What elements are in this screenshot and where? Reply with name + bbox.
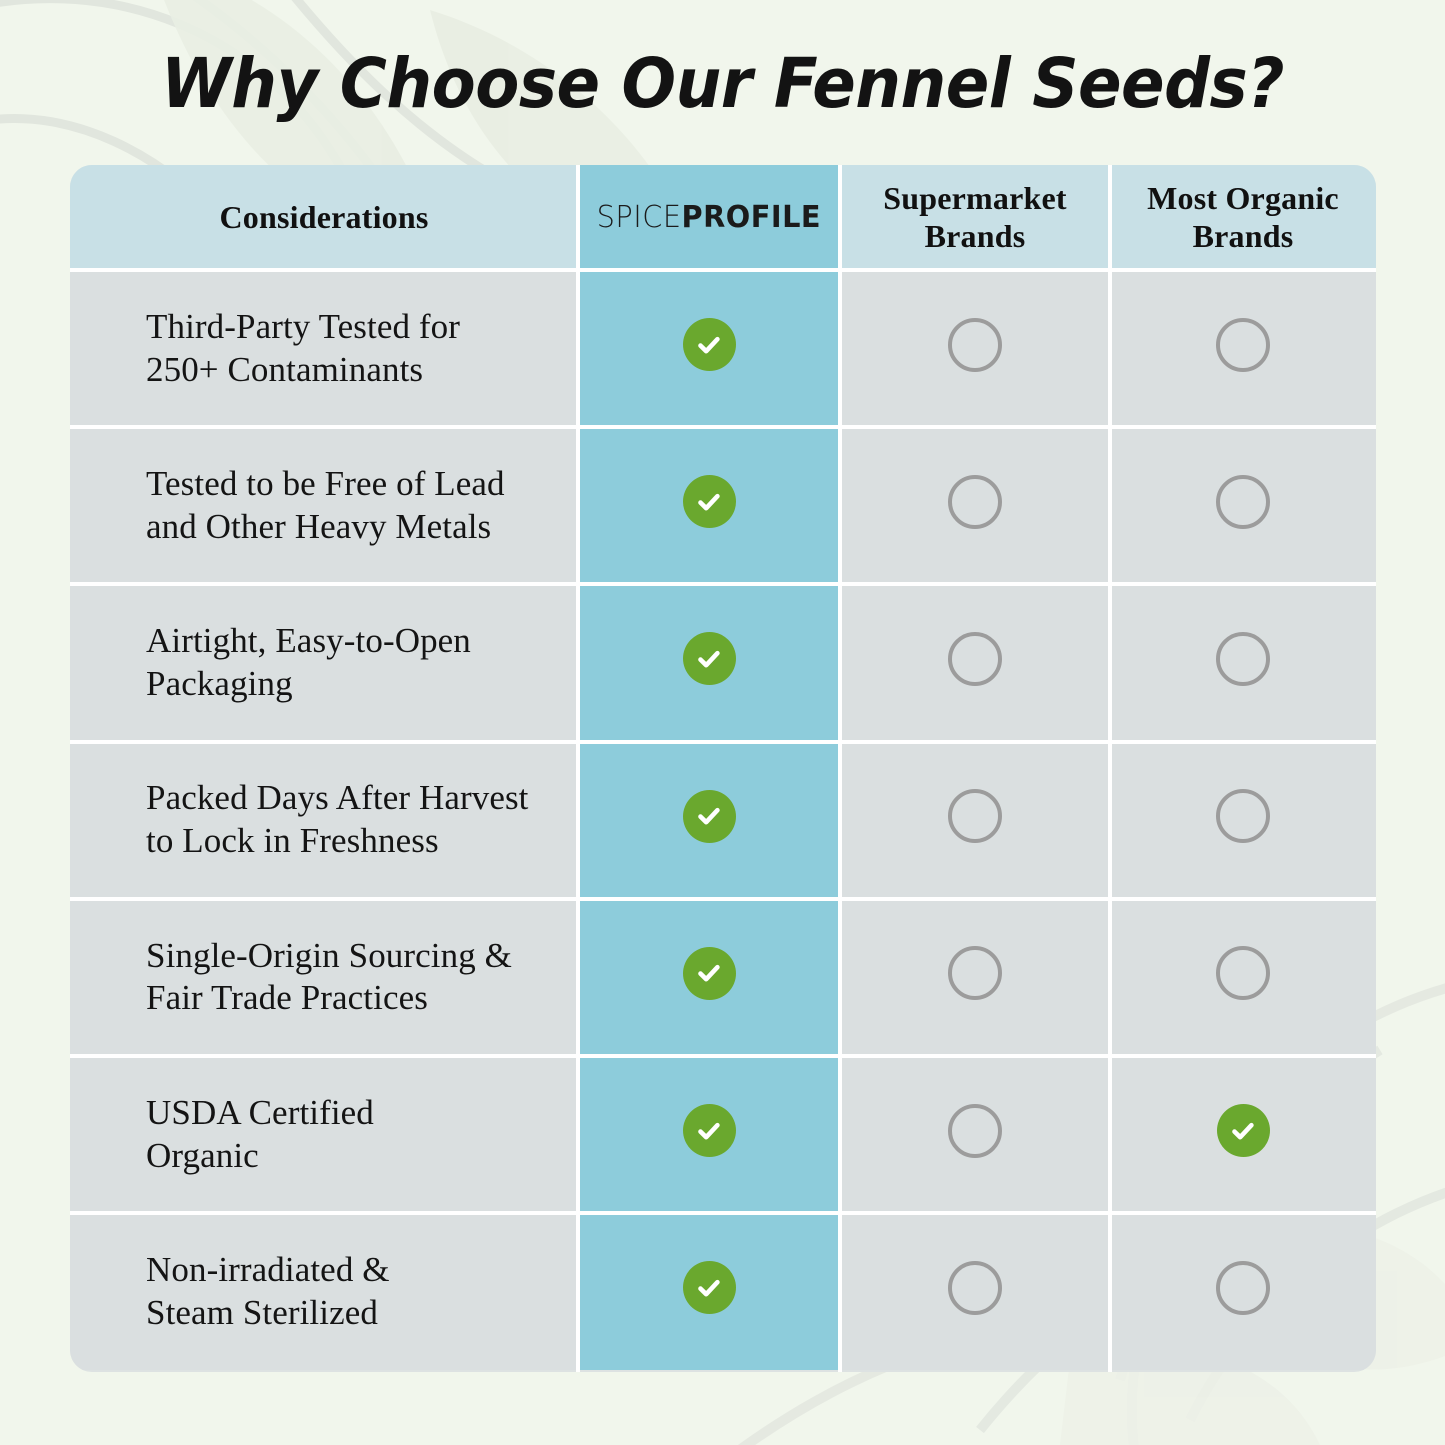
row-label-line-1: Non-irradiated & (146, 1250, 390, 1289)
table-row: Single-Origin Sourcing &Fair Trade Pract… (70, 899, 1376, 1056)
empty-circle-icon (1216, 946, 1270, 1000)
empty-circle-icon (948, 1104, 1002, 1158)
header-line-1: Supermarket (883, 180, 1067, 216)
check-circle-icon (683, 947, 736, 1000)
marker-cell-supermarket-brands (840, 742, 1110, 899)
check-circle-icon (1217, 1104, 1270, 1157)
table-row: USDA CertifiedOrganic (70, 1056, 1376, 1213)
marker-cell-spiceprofile (578, 742, 840, 899)
row-label-line-2: Steam Sterilized (146, 1293, 378, 1332)
empty-circle-icon (948, 1261, 1002, 1315)
header-line-2: Brands (925, 218, 1026, 254)
row-label-line-2: Fair Trade Practices (146, 978, 428, 1017)
row-label-text: Packed Days After Harvestto Lock in Fres… (146, 777, 529, 862)
marker-cell-most-organic-brands (1110, 899, 1376, 1056)
logo-text-light: SPICE (597, 200, 682, 235)
row-label-cell: Non-irradiated &Steam Sterilized (70, 1213, 578, 1370)
marker-cell-supermarket-brands (840, 270, 1110, 427)
marker-cell-spiceprofile (578, 584, 840, 741)
marker-cell-supermarket-brands (840, 1056, 1110, 1213)
marker-cell-supermarket-brands (840, 1213, 1110, 1370)
header-label-considerations: Considerations (219, 199, 428, 236)
empty-circle-icon (948, 632, 1002, 686)
table-row: Third-Party Tested for250+ Contaminants (70, 270, 1376, 427)
row-label-line-2: to Lock in Freshness (146, 821, 439, 860)
row-label-line-1: Packed Days After Harvest (146, 778, 529, 817)
header-label-supermarket: SupermarketBrands (883, 180, 1067, 254)
row-label-line-1: Third-Party Tested for (146, 307, 460, 346)
page-title: Why Choose Our Fennel Seeds? (51, 44, 1395, 124)
table-body: Third-Party Tested for250+ ContaminantsT… (70, 270, 1376, 1370)
row-label-cell: Airtight, Easy-to-OpenPackaging (70, 584, 578, 741)
empty-circle-icon (948, 789, 1002, 843)
marker-cell-spiceprofile (578, 899, 840, 1056)
marker-cell-most-organic-brands (1110, 270, 1376, 427)
row-label-cell: USDA CertifiedOrganic (70, 1056, 578, 1213)
header-cell-supermarket-brands: SupermarketBrands (840, 165, 1110, 270)
header-cell-most-organic-brands: Most OrganicBrands (1110, 165, 1376, 270)
row-label-line-2: Organic (146, 1136, 259, 1175)
marker-cell-most-organic-brands (1110, 427, 1376, 584)
row-label-line-1: USDA Certified (146, 1093, 374, 1132)
row-label-text: Single-Origin Sourcing &Fair Trade Pract… (146, 935, 512, 1020)
marker-cell-spiceprofile (578, 270, 840, 427)
row-label-cell: Packed Days After Harvestto Lock in Fres… (70, 742, 578, 899)
marker-cell-most-organic-brands (1110, 584, 1376, 741)
logo-text-bold: PROFILE (682, 200, 822, 235)
empty-circle-icon (1216, 1261, 1270, 1315)
marker-cell-spiceprofile (578, 427, 840, 584)
empty-circle-icon (1216, 318, 1270, 372)
empty-circle-icon (1216, 789, 1270, 843)
table-header-row: Considerations SPICEPROFILE SupermarketB… (70, 165, 1376, 270)
check-circle-icon (683, 632, 736, 685)
marker-cell-supermarket-brands (840, 427, 1110, 584)
marker-cell-most-organic-brands (1110, 1056, 1376, 1213)
empty-circle-icon (948, 946, 1002, 1000)
marker-cell-most-organic-brands (1110, 1213, 1376, 1370)
check-circle-icon (683, 1261, 736, 1314)
table-row: Non-irradiated &Steam Sterilized (70, 1213, 1376, 1370)
header-cell-spiceprofile: SPICEPROFILE (578, 165, 840, 270)
row-label-line-2: 250+ Contaminants (146, 350, 423, 389)
comparison-table: Considerations SPICEPROFILE SupermarketB… (70, 165, 1376, 1372)
empty-circle-icon (1216, 475, 1270, 529)
check-circle-icon (683, 475, 736, 528)
row-label-cell: Tested to be Free of Leadand Other Heavy… (70, 427, 578, 584)
marker-cell-spiceprofile (578, 1056, 840, 1213)
row-label-line-1: Single-Origin Sourcing & (146, 936, 512, 975)
empty-circle-icon (1216, 632, 1270, 686)
check-circle-icon (683, 318, 736, 371)
row-label-text: USDA CertifiedOrganic (146, 1092, 374, 1177)
empty-circle-icon (948, 318, 1002, 372)
row-label-text: Tested to be Free of Leadand Other Heavy… (146, 463, 505, 548)
check-circle-icon (683, 1104, 736, 1157)
row-label-text: Third-Party Tested for250+ Contaminants (146, 306, 460, 391)
table-row: Airtight, Easy-to-OpenPackaging (70, 584, 1376, 741)
header-line-2: Brands (1193, 218, 1294, 254)
table-row: Tested to be Free of Leadand Other Heavy… (70, 427, 1376, 584)
row-label-line-1: Tested to be Free of Lead (146, 464, 505, 503)
spiceprofile-logo: SPICEPROFILE (597, 200, 821, 235)
row-label-cell: Third-Party Tested for250+ Contaminants (70, 270, 578, 427)
row-label-text: Non-irradiated &Steam Sterilized (146, 1249, 390, 1334)
check-circle-icon (683, 790, 736, 843)
row-label-line-2: and Other Heavy Metals (146, 507, 491, 546)
marker-cell-spiceprofile (578, 1213, 840, 1370)
row-label-line-2: Packaging (146, 664, 293, 703)
table-row: Packed Days After Harvestto Lock in Fres… (70, 742, 1376, 899)
header-label-organic: Most OrganicBrands (1147, 180, 1339, 254)
marker-cell-supermarket-brands (840, 899, 1110, 1056)
marker-cell-supermarket-brands (840, 584, 1110, 741)
header-cell-considerations: Considerations (70, 165, 578, 270)
header-line-1: Most Organic (1147, 180, 1339, 216)
empty-circle-icon (948, 475, 1002, 529)
marker-cell-most-organic-brands (1110, 742, 1376, 899)
row-label-cell: Single-Origin Sourcing &Fair Trade Pract… (70, 899, 578, 1056)
row-label-line-1: Airtight, Easy-to-Open (146, 621, 471, 660)
row-label-text: Airtight, Easy-to-OpenPackaging (146, 620, 471, 705)
